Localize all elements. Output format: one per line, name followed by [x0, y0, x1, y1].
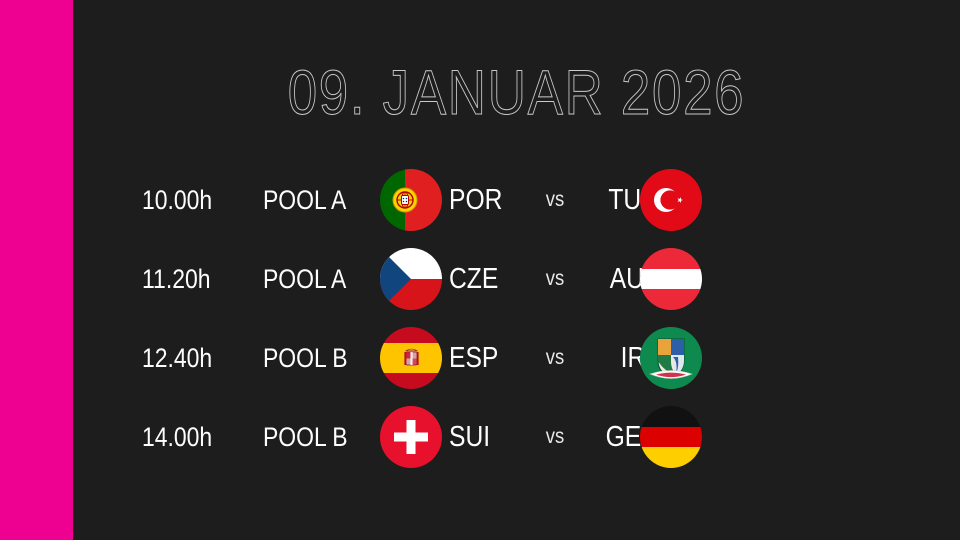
match-pool: POOL A	[263, 264, 365, 294]
match-pool: POOL B	[263, 343, 365, 373]
home-team-code: CZE	[449, 263, 526, 295]
germany-flag-icon	[640, 406, 702, 468]
match-row[interactable]: 12.40h POOL B	[73, 318, 960, 397]
away-flag	[640, 248, 702, 310]
home-team-code: POR	[449, 184, 526, 216]
match-row[interactable]: 14.00h POOL B SUI vs GER	[73, 397, 960, 476]
switzerland-flag-icon	[380, 406, 442, 468]
home-flag	[380, 169, 442, 231]
match-pool: POOL A	[263, 185, 365, 215]
home-flag	[380, 248, 442, 310]
match-time: 12.40h	[142, 343, 236, 373]
away-flag	[640, 406, 702, 468]
versus-label: vs	[529, 267, 582, 291]
versus-label: vs	[529, 425, 582, 449]
match-time: 11.20h	[142, 264, 236, 294]
page-title: 09. JANUAR 2026	[144, 58, 889, 128]
home-team-code: SUI	[449, 421, 526, 453]
away-flag	[640, 327, 702, 389]
home-flag	[380, 406, 442, 468]
versus-label: vs	[529, 188, 582, 212]
ireland-crest-icon	[640, 327, 702, 389]
czech-republic-flag-icon	[380, 248, 442, 310]
match-row[interactable]: 10.00h POOL A	[73, 160, 960, 239]
schedule-panel: 09. JANUAR 2026 10.00h POOL A	[73, 0, 960, 540]
home-team-code: ESP	[449, 342, 526, 374]
spain-flag-icon	[380, 327, 442, 389]
portugal-flag-icon	[380, 169, 442, 231]
home-flag	[380, 327, 442, 389]
match-time: 10.00h	[142, 185, 236, 215]
turkey-flag-icon	[640, 169, 702, 231]
match-pool: POOL B	[263, 422, 365, 452]
away-flag	[640, 169, 702, 231]
match-list: 10.00h POOL A	[73, 160, 960, 476]
versus-label: vs	[529, 346, 582, 370]
austria-flag-icon	[640, 248, 702, 310]
left-accent-bar	[0, 0, 73, 540]
match-row[interactable]: 11.20h POOL A CZE vs AUT	[73, 239, 960, 318]
match-time: 14.00h	[142, 422, 236, 452]
